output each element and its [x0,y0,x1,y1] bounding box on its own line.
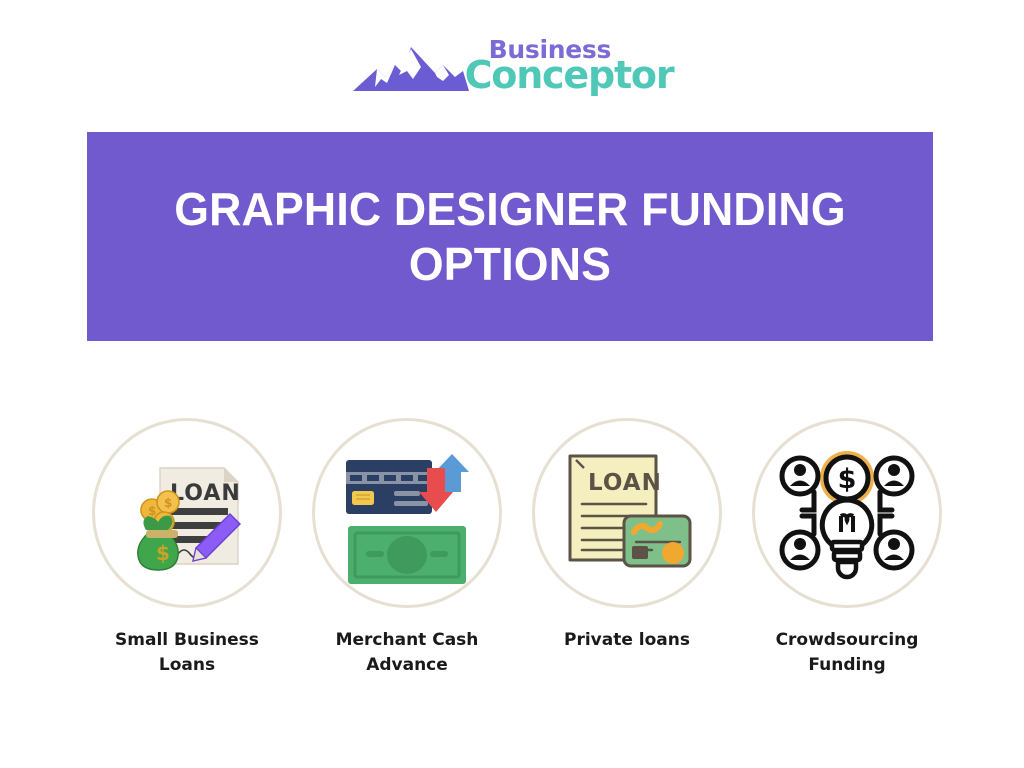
lightbulb-dollar-people-network-icon: $ [772,438,922,588]
option-card-merchant-cash-advance[interactable]: Merchant Cash Advance [307,418,507,708]
credit-card-cash-exchange-icon [332,438,482,588]
option-circle: LOAN [532,418,722,608]
option-card-small-business-loans[interactable]: LOAN $ $ $ $ Smal [87,418,287,708]
funding-options-row: LOAN $ $ $ $ Smal [87,418,947,708]
loan-document-money-bag-icon: LOAN $ $ $ $ [112,438,262,588]
mountain-peaks-icon [351,39,471,94]
svg-text:$: $ [164,496,172,510]
logo-wordmark: Business Conceptor [465,39,674,92]
option-label: Small Business Loans [97,628,277,677]
svg-text:$: $ [838,464,857,495]
svg-text:LOAN: LOAN [170,481,241,506]
logo-word-conceptor: Conceptor [465,60,674,92]
svg-text:$: $ [156,541,170,565]
loan-paper-green-card-icon: LOAN [552,438,702,588]
option-card-private-loans[interactable]: LOAN Private loans [527,418,727,708]
option-card-crowdsourcing-funding[interactable]: $ Crowdsourcing Funding [747,418,947,708]
page-title: GRAPHIC DESIGNER FUNDING OPTIONS [141,182,878,291]
title-banner: GRAPHIC DESIGNER FUNDING OPTIONS [87,132,933,341]
option-circle [312,418,502,608]
option-circle: $ [752,418,942,608]
option-label: Merchant Cash Advance [317,628,497,677]
svg-text:LOAN: LOAN [588,470,662,496]
brand-logo: Business Conceptor [0,30,1024,102]
brand-logo-inner: Business Conceptor [351,39,674,94]
option-circle: LOAN $ $ $ $ [92,418,282,608]
option-label: Private loans [537,628,717,653]
option-label: Crowdsourcing Funding [757,628,937,677]
